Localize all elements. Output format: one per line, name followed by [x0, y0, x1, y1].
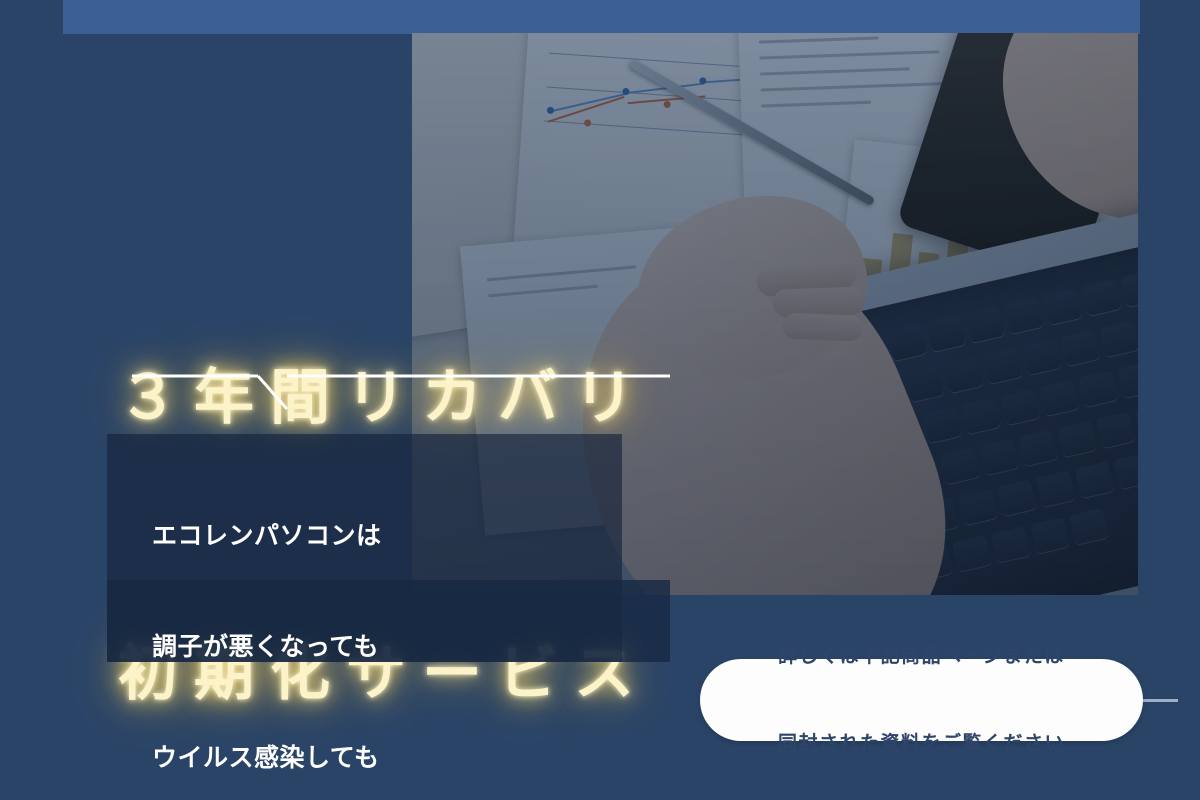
headline-line-1: ３年間リカバリ — [118, 352, 650, 444]
copy-line-3: ウイルス感染しても — [152, 740, 692, 777]
promo-banner: ３年間リカバリ 初期化サービス エコレンパソコンは 調子が悪くなっても ウイルス… — [0, 0, 1200, 800]
copy-line-1: エコレンパソコンは — [152, 518, 692, 555]
copy-text: エコレンパソコンは 調子が悪くなっても ウイルス感染しても 設定を狂わせてしまっ… — [152, 444, 692, 800]
callout-line-2: 同封された資料をご覧ください — [778, 729, 1065, 758]
callout-line-1: 詳しくは下記商品ページまたは — [778, 642, 1065, 671]
callout-text: 詳しくは下記商品ページまたは 同封された資料をご覧ください — [778, 584, 1065, 800]
callout-pill[interactable]: 詳しくは下記商品ページまたは 同封された資料をご覧ください — [700, 659, 1143, 741]
copy-line-2: 調子が悪くなっても — [152, 629, 692, 666]
top-accent-bar — [63, 0, 1140, 34]
